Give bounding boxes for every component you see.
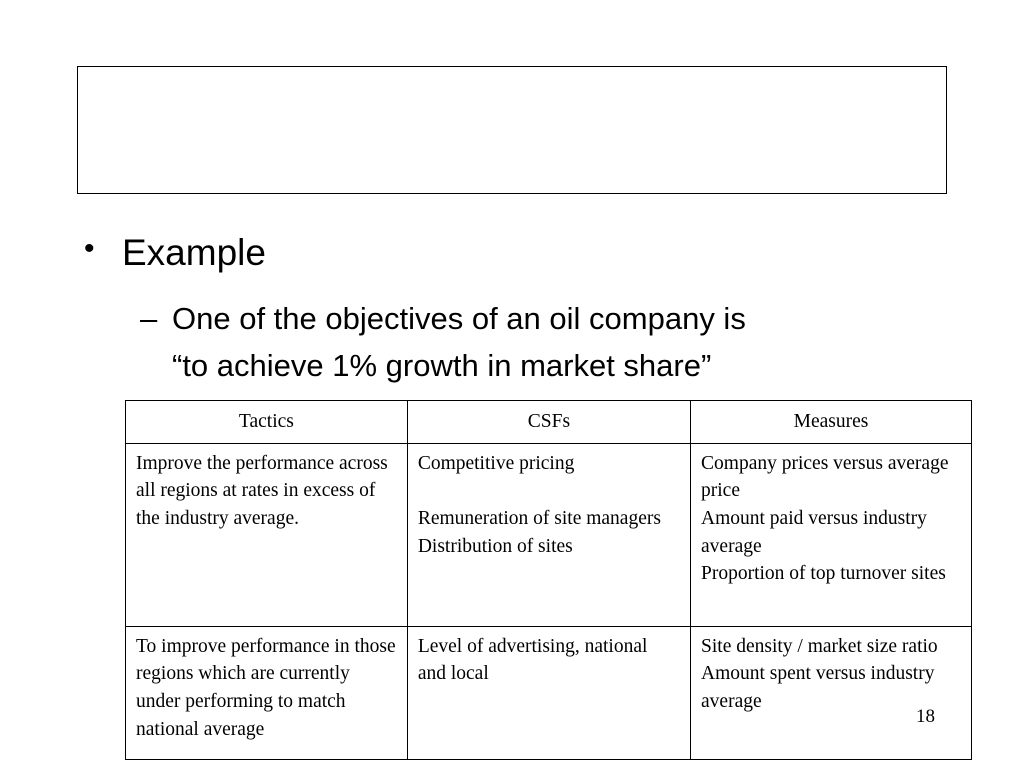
table-row: To improve performance in those regions … <box>126 626 972 759</box>
table-cell-tactics: Improve the performance across all regio… <box>126 443 408 626</box>
table-cell-measures: Company prices versus average price Amou… <box>691 443 972 626</box>
table-cell-csfs: Level of advertising, national and local <box>407 626 690 759</box>
bullet-level2-text: One of the objectives of an oil company … <box>172 296 932 389</box>
table-cell-csfs: Competitive pricing Remuneration of site… <box>407 443 690 626</box>
slide-number: 18 <box>916 706 935 728</box>
table-header-measures: Measures <box>691 401 972 444</box>
table-header-row: Tactics CSFs Measures <box>126 401 972 444</box>
table-cell-measures: Site density / market size ratio Amount … <box>691 626 972 759</box>
tactics-csf-measures-table: Tactics CSFs Measures Improve the perfor… <box>125 400 972 760</box>
table-header-tactics: Tactics <box>126 401 408 444</box>
bullet-level2: –One of the objectives of an oil company… <box>140 296 1020 389</box>
bullet-marker-level2: – <box>140 296 172 343</box>
bullet-level1-text: Example <box>122 231 266 275</box>
bullet-marker-level1: • <box>84 231 122 266</box>
title-placeholder[interactable] <box>77 66 947 194</box>
bullet-level1: •Example <box>84 231 984 275</box>
table-row: Improve the performance across all regio… <box>126 443 972 626</box>
table-cell-tactics: To improve performance in those regions … <box>126 626 408 759</box>
table-header-csfs: CSFs <box>407 401 690 444</box>
